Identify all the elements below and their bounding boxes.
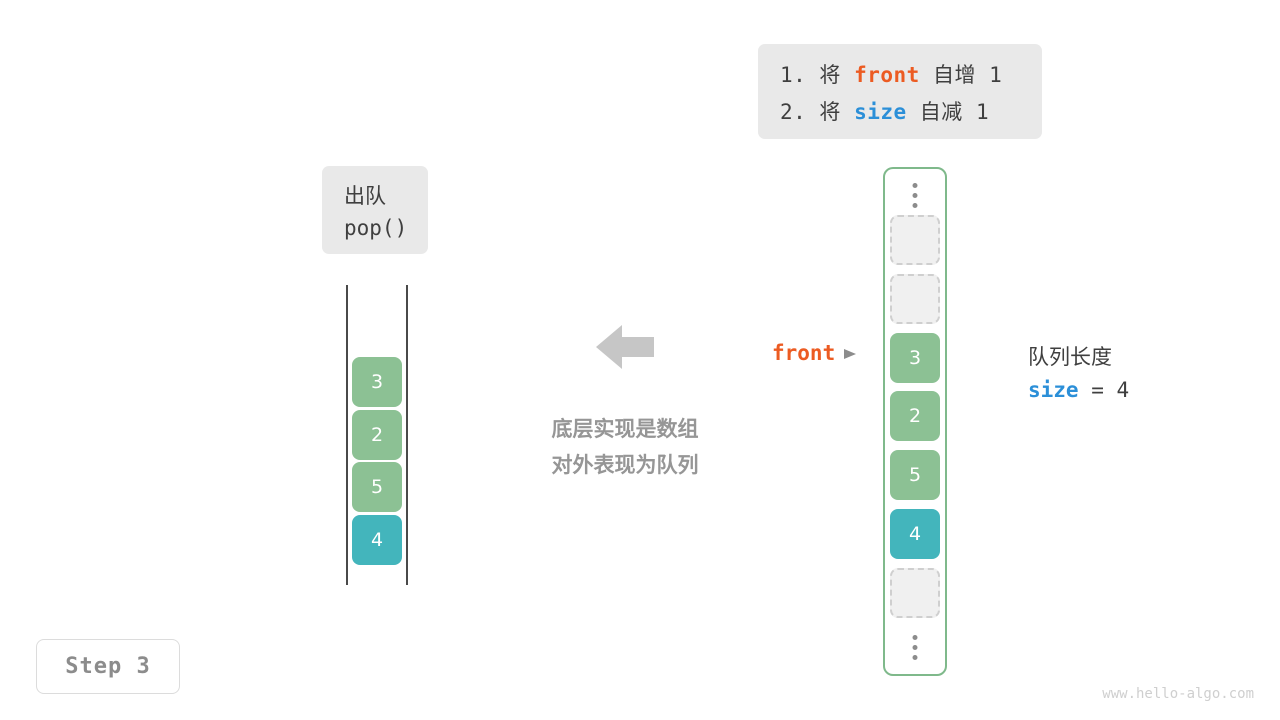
operation-title: 出队 [344, 180, 428, 212]
array-slot-empty [890, 568, 940, 618]
instruction-line-1-suffix: 自增 1 [920, 63, 1002, 87]
queue-cell: 4 [352, 515, 402, 565]
operation-label-box: 出队 pop() [322, 166, 428, 254]
watermark: www.hello-algo.com [1102, 686, 1254, 702]
caption-line-1: 底层实现是数组 [529, 411, 721, 447]
array-container: 3 2 5 4 [883, 167, 947, 676]
caption-text: 底层实现是数组 对外表现为队列 [529, 411, 721, 483]
array-slot-empty [890, 215, 940, 265]
queue-abstract-view: 3 2 5 4 [346, 285, 408, 585]
operation-method: pop() [344, 212, 428, 244]
instruction-line-1: 1. 将 front 自增 1 [780, 57, 1020, 94]
array-slot: 2 [890, 391, 940, 441]
size-annotation-expression: size = 4 [1028, 373, 1129, 407]
instruction-callout: 1. 将 front 自增 1 2. 将 size 自减 1 [758, 44, 1042, 139]
queue-cell: 2 [352, 410, 402, 460]
size-variable-name: size [1028, 378, 1079, 402]
queue-cell: 5 [352, 462, 402, 512]
size-value: 4 [1117, 378, 1130, 402]
array-slot: 3 [890, 333, 940, 383]
size-annotation: 队列长度 size = 4 [1028, 341, 1129, 407]
instruction-line-2-prefix: 2. 将 [780, 100, 854, 124]
queue-cell: 3 [352, 357, 402, 407]
queue-rail-right [406, 285, 408, 585]
array-slot-empty [890, 274, 940, 324]
step-badge: Step 3 [36, 639, 180, 694]
size-equals-sign: = [1079, 378, 1117, 402]
queue-rail-left [346, 285, 348, 585]
front-pointer-label: front [772, 341, 835, 365]
ellipsis-dots-bottom-icon [913, 635, 918, 660]
instruction-line-2: 2. 将 size 自减 1 [780, 94, 1020, 131]
instruction-line-1-prefix: 1. 将 [780, 63, 854, 87]
instruction-line-2-suffix: 自减 1 [907, 100, 989, 124]
right-triangle-icon [843, 346, 857, 360]
caption-line-2: 对外表现为队列 [529, 447, 721, 483]
instruction-line-2-code: size [854, 100, 907, 124]
ellipsis-dots-top-icon [913, 183, 918, 208]
array-slot: 5 [890, 450, 940, 500]
instruction-line-1-code: front [854, 63, 920, 87]
size-annotation-title: 队列长度 [1028, 341, 1129, 373]
array-slot: 4 [890, 509, 940, 559]
front-pointer: front [772, 341, 857, 365]
left-arrow-icon [596, 323, 654, 371]
